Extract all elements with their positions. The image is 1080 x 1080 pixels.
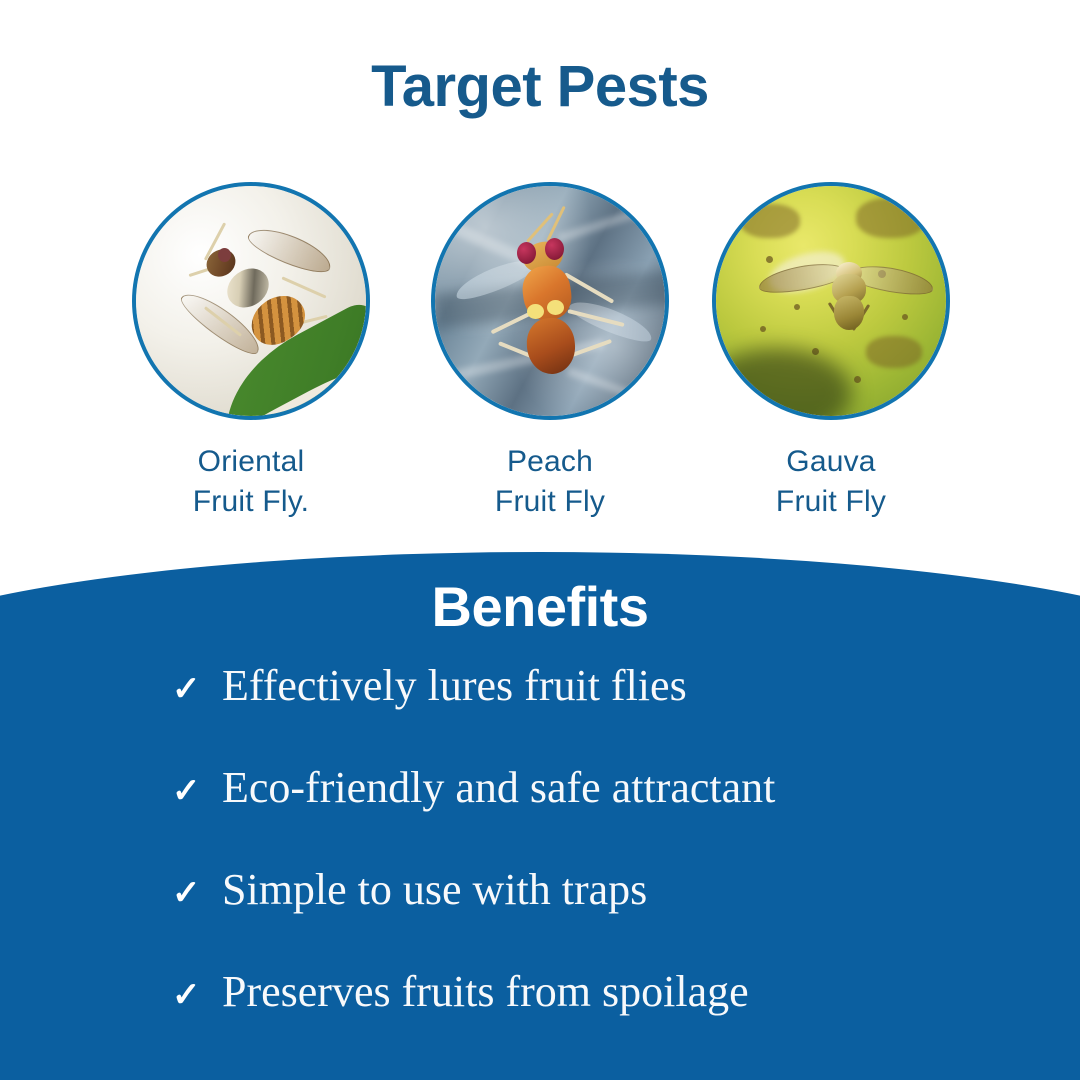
fly-abdomen xyxy=(524,316,578,377)
fly-eye xyxy=(545,238,564,260)
benefit-text: Simple to use with traps xyxy=(222,866,647,914)
benefits-list: ✓ Effectively lures fruit flies ✓ Eco-fr… xyxy=(172,662,1032,1070)
fly-illustration xyxy=(188,234,338,384)
pest-card-gauva: Gauva Fruit Fly xyxy=(706,182,956,522)
page-title: Target Pests xyxy=(0,55,1080,119)
fruit-spot xyxy=(760,326,766,332)
benefit-item: ✓ Simple to use with traps xyxy=(172,866,1032,968)
pest-card-oriental: Oriental Fruit Fly. xyxy=(126,182,376,522)
pest-label-line2: Fruit Fly. xyxy=(193,485,309,518)
pest-label-line2: Fruit Fly xyxy=(776,485,886,518)
fruit-spot xyxy=(766,256,773,263)
check-icon: ✓ xyxy=(172,774,222,808)
benefit-item: ✓ Preserves fruits from spoilage xyxy=(172,968,1032,1070)
pest-label-line2: Fruit Fly xyxy=(495,485,605,518)
pest-circle-oriental xyxy=(132,182,370,420)
pest-circle-gauva xyxy=(712,182,950,420)
fruit-blotch xyxy=(740,204,800,238)
target-pests-row: Oriental Fruit Fly. xyxy=(0,182,1080,532)
benefit-item: ✓ Effectively lures fruit flies xyxy=(172,662,1032,764)
benefit-text: Preserves fruits from spoilage xyxy=(222,968,749,1016)
fly-antenna xyxy=(546,206,565,241)
pest-label-oriental: Oriental Fruit Fly. xyxy=(126,442,376,522)
fly-scutellum xyxy=(527,304,544,319)
benefits-title: Benefits xyxy=(0,574,1080,639)
fly-eye xyxy=(218,248,231,262)
benefits-content: Benefits ✓ Effectively lures fruit flies… xyxy=(0,552,1080,1080)
pest-label-line1: Gauva xyxy=(786,445,875,478)
pest-label-line1: Oriental xyxy=(198,445,305,478)
check-icon: ✓ xyxy=(172,978,222,1012)
fruit-shadow xyxy=(716,348,852,416)
fly-scutellum xyxy=(547,300,564,315)
fly-illustration xyxy=(774,244,914,354)
check-icon: ✓ xyxy=(172,672,222,706)
fruit-blotch xyxy=(856,198,926,238)
benefit-item: ✓ Eco-friendly and safe attractant xyxy=(172,764,1032,866)
fruit-spot xyxy=(854,376,861,383)
fly-illustration xyxy=(493,224,643,394)
pest-label-peach: Peach Fruit Fly xyxy=(425,442,675,522)
pest-label-line1: Peach xyxy=(507,445,593,478)
benefit-text: Effectively lures fruit flies xyxy=(222,662,687,710)
pest-card-peach: Peach Fruit Fly xyxy=(425,182,675,522)
fly-abdomen xyxy=(834,296,864,330)
gauva-fruit-fly-photo xyxy=(716,186,946,416)
oriental-fruit-fly-photo xyxy=(136,186,366,416)
peach-fruit-fly-photo xyxy=(435,186,665,416)
poster-root: Target Pests xyxy=(0,0,1080,1080)
pest-circle-peach xyxy=(431,182,669,420)
benefits-band: Benefits ✓ Effectively lures fruit flies… xyxy=(0,552,1080,1080)
fly-eye xyxy=(517,242,536,264)
benefit-text: Eco-friendly and safe attractant xyxy=(222,764,775,812)
check-icon: ✓ xyxy=(172,876,222,910)
pest-label-gauva: Gauva Fruit Fly xyxy=(706,442,956,522)
